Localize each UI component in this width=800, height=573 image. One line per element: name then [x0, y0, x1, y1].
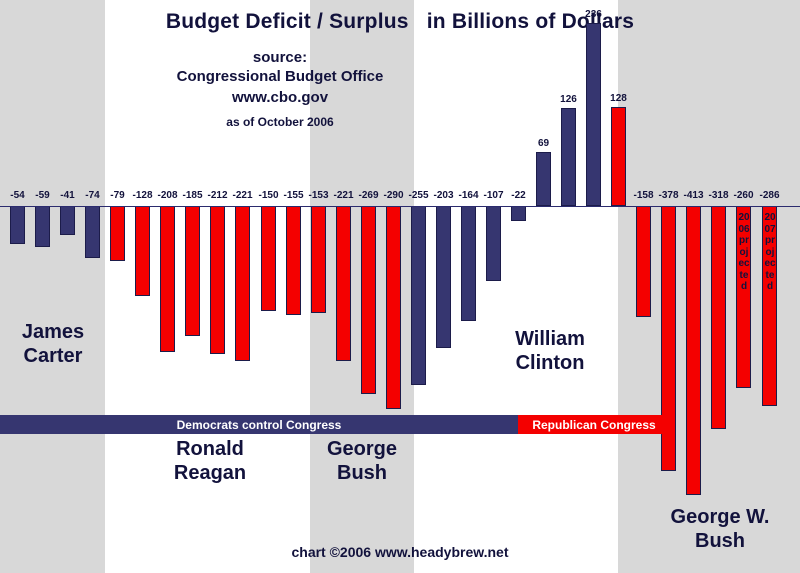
president-label-bush41: George Bush — [311, 437, 413, 485]
bar-value-label-1998: 69 — [529, 138, 559, 149]
bar-1988 — [286, 206, 301, 315]
bar-1981 — [110, 206, 125, 261]
plot-area: -54-59-41-74-79-128-208-185-212-221-150-… — [0, 0, 800, 573]
bar-value-label-1997: -22 — [504, 190, 534, 201]
bar-1978 — [35, 206, 50, 247]
bar-2004 — [686, 206, 701, 495]
bar-2001 — [611, 107, 626, 206]
chart-credit: chart ©2006 www.headybrew.net — [0, 544, 800, 560]
zero-axis-line — [0, 206, 800, 207]
bar-1999 — [561, 108, 576, 206]
bar-1987 — [261, 206, 276, 311]
congress-control-band: Democrats control Congress Republican Co… — [0, 415, 800, 434]
bar-1977 — [10, 206, 25, 244]
bar-1986 — [235, 206, 250, 361]
president-label-carter: James Carter — [2, 320, 104, 368]
bar-1985 — [210, 206, 225, 354]
bar-value-label-1999: 126 — [554, 94, 584, 105]
congress-segment-republican: Republican Congress — [518, 415, 670, 434]
bar-1992 — [386, 206, 401, 409]
bar-2007 — [762, 206, 777, 406]
bar-1980 — [85, 206, 100, 258]
bar-1984 — [185, 206, 200, 336]
bar-2005 — [711, 206, 726, 429]
bar-1998 — [536, 152, 551, 206]
bar-1989 — [311, 206, 326, 313]
bar-1982 — [135, 206, 150, 296]
president-label-clinton: William Clinton — [480, 327, 620, 375]
bar-1990 — [336, 206, 351, 361]
bar-value-label-2001: 128 — [604, 93, 634, 104]
budget-deficit-surplus-chart: Budget Deficit / Surplus in Billions of … — [0, 0, 800, 573]
bar-1983 — [160, 206, 175, 352]
president-label-reagan: Ronald Reagan — [120, 437, 300, 485]
bar-1996 — [486, 206, 501, 281]
bar-2000 — [586, 23, 601, 206]
bar-2006 — [736, 206, 751, 388]
bar-1995 — [461, 206, 476, 321]
bar-value-label-2007: -286 — [755, 190, 785, 201]
bar-1997 — [511, 206, 526, 221]
bar-1994 — [436, 206, 451, 348]
bar-value-label-2000: 236 — [579, 9, 609, 20]
congress-segment-democrat: Democrats control Congress — [0, 415, 518, 434]
bar-2002 — [636, 206, 651, 317]
bar-1991 — [361, 206, 376, 394]
bar-1979 — [60, 206, 75, 235]
bar-1993 — [411, 206, 426, 385]
